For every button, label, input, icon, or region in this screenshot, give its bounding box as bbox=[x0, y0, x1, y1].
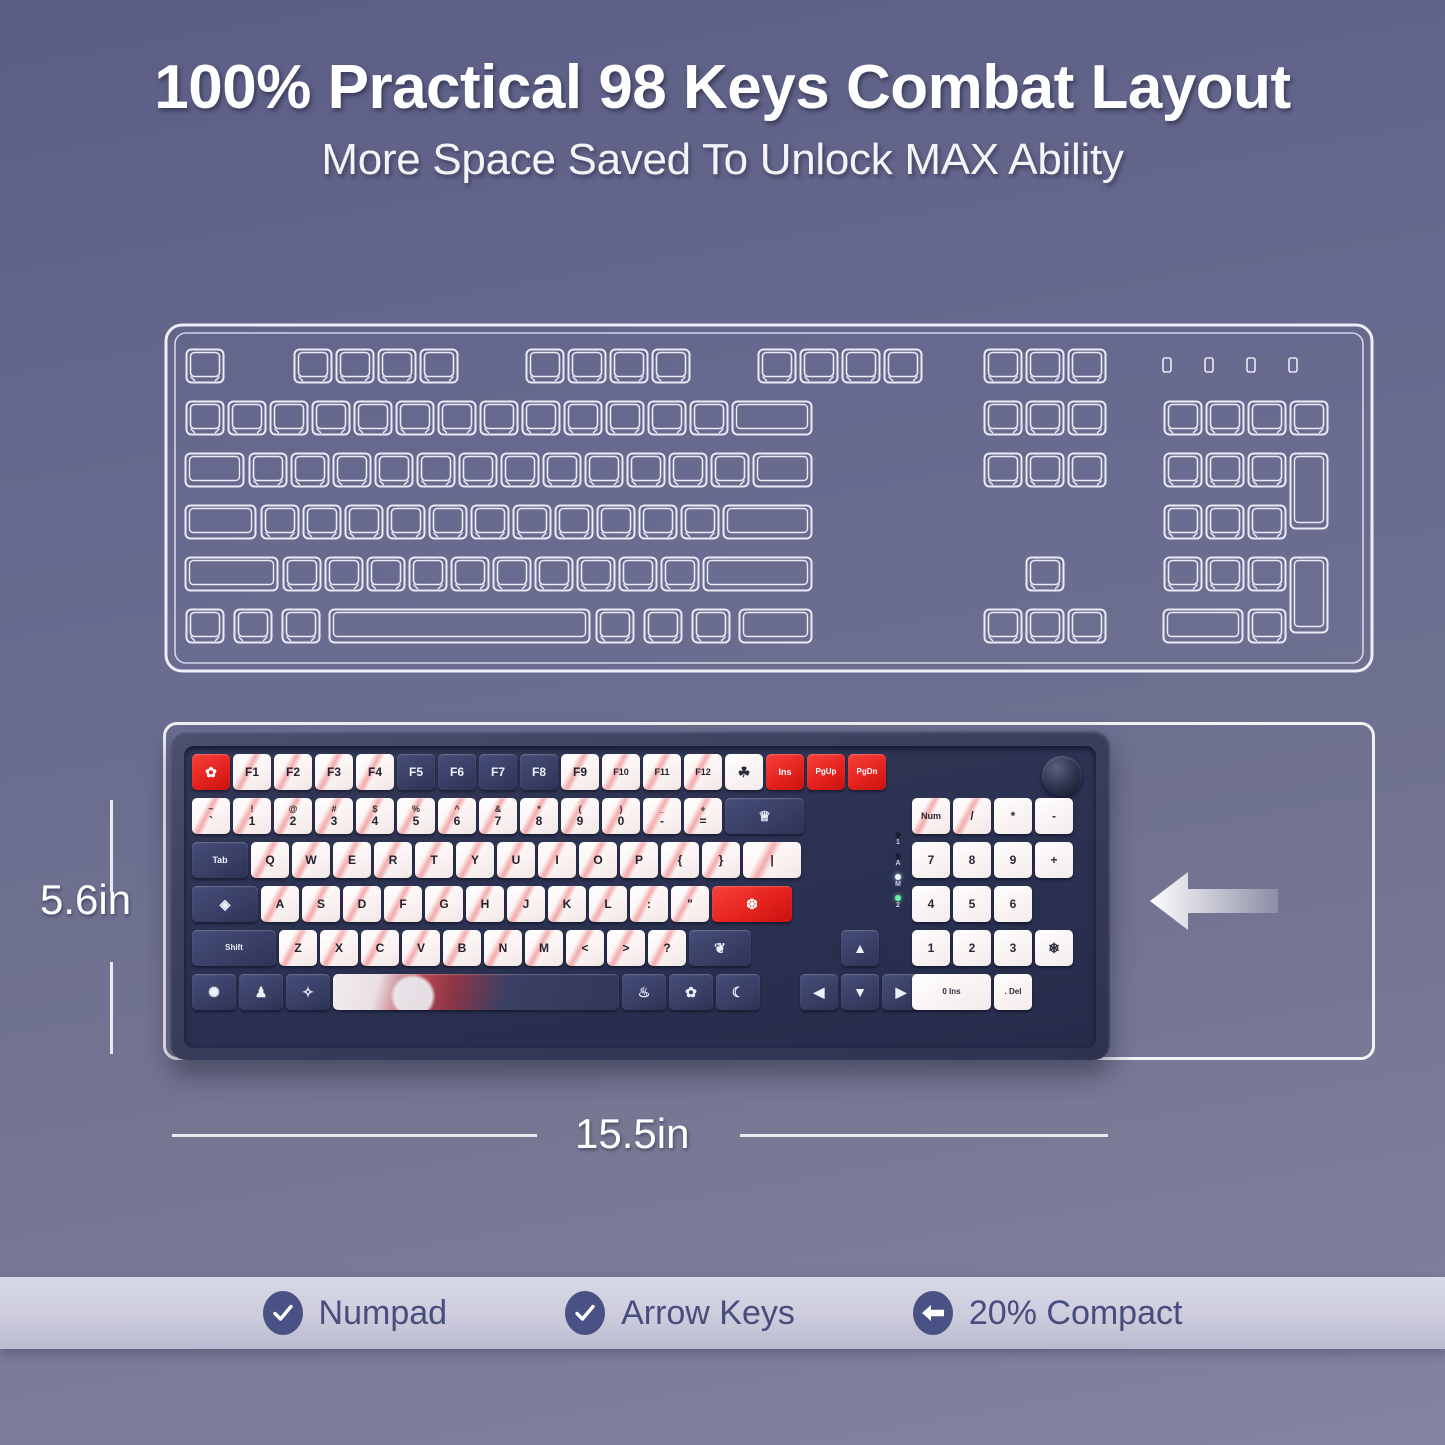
key-legend-shifted: + bbox=[700, 805, 705, 814]
key-f11[interactable]: F11 bbox=[643, 754, 681, 790]
key-f[interactable]: F bbox=[384, 886, 422, 922]
key-legend: E bbox=[348, 854, 356, 866]
key-legend: Ins bbox=[778, 768, 791, 777]
key-legend: I bbox=[555, 854, 558, 866]
key-d[interactable]: D bbox=[343, 886, 381, 922]
key-legend-primary: 2 bbox=[290, 815, 297, 827]
key-5[interactable]: 5 bbox=[953, 886, 991, 922]
key-legend: F10 bbox=[613, 768, 629, 777]
key--[interactable]: " bbox=[671, 886, 709, 922]
key-`[interactable]: ~` bbox=[192, 798, 230, 834]
key-legend: K bbox=[563, 898, 572, 910]
key-legend: Shift bbox=[225, 944, 243, 952]
key-torch-emblem[interactable]: ☘ bbox=[725, 754, 763, 790]
key-tab[interactable]: Tab bbox=[192, 842, 248, 878]
key-4[interactable]: 4 bbox=[912, 886, 950, 922]
indicator-led: 2 bbox=[895, 895, 901, 909]
indicator-led: M bbox=[895, 874, 901, 888]
key-legend: M bbox=[539, 942, 549, 954]
arrow-up-key-slot: ▲ bbox=[841, 930, 879, 966]
key-legend-shifted: & bbox=[495, 805, 502, 814]
key-legend: F12 bbox=[695, 768, 711, 777]
key-legend-shifted: % bbox=[412, 805, 420, 814]
key-3[interactable]: 3 bbox=[994, 930, 1032, 966]
key-5[interactable]: %5 bbox=[397, 798, 435, 834]
numpad-row-0del: 0 Ins. Del bbox=[912, 974, 1032, 1010]
key-legend: 4 bbox=[928, 898, 935, 910]
key-legend: F5 bbox=[409, 766, 423, 778]
width-dimension-label: 15.5in bbox=[575, 1110, 689, 1158]
key-feather-emblem[interactable]: ❦ bbox=[689, 930, 751, 966]
key-7[interactable]: 7 bbox=[912, 842, 950, 878]
key-v[interactable]: V bbox=[402, 930, 440, 966]
key-u[interactable]: U bbox=[497, 842, 535, 878]
snowflake-emblem-icon: ❄ bbox=[1048, 941, 1060, 955]
key-legend-shifted: ( bbox=[579, 805, 582, 814]
key-a[interactable]: A bbox=[261, 886, 299, 922]
feature-compact: 20% Compact bbox=[913, 1291, 1183, 1335]
crest-emblem-icon: ♕ bbox=[758, 809, 771, 823]
key-star-emblem[interactable]: ✺ bbox=[192, 974, 236, 1010]
key-7[interactable]: &7 bbox=[479, 798, 517, 834]
key-legend: B bbox=[458, 942, 467, 954]
key-8[interactable]: 8 bbox=[953, 842, 991, 878]
key-legend-primary: 3 bbox=[331, 815, 338, 827]
key-legend: F8 bbox=[532, 766, 546, 778]
key-legend-shifted: ! bbox=[251, 805, 254, 814]
key-e[interactable]: E bbox=[333, 842, 371, 878]
key-y[interactable]: Y bbox=[456, 842, 494, 878]
keyboard-product-photo: 1 A M 2 ✿F1F2F3F4F5F6F7F8F9F10F11F12☘Ins… bbox=[170, 730, 1110, 1060]
key-legend-shifted: ^ bbox=[454, 805, 459, 814]
key-legend-shifted: ~ bbox=[208, 805, 213, 814]
sakura-emblem-icon: ✿ bbox=[685, 985, 697, 999]
key-legend: . Del bbox=[1005, 988, 1022, 996]
key-diamond-emblem[interactable]: ◈ bbox=[192, 886, 258, 922]
arrow-left-circle-icon bbox=[913, 1291, 953, 1335]
key-1[interactable]: 1 bbox=[912, 930, 950, 966]
key-h[interactable]: H bbox=[466, 886, 504, 922]
key-spacebar[interactable] bbox=[333, 974, 619, 1010]
key-legend: ? bbox=[663, 942, 670, 954]
check-circle-icon bbox=[565, 1291, 605, 1335]
key-flame-emblem[interactable]: ♨ bbox=[622, 974, 666, 1010]
key-p[interactable]: P bbox=[620, 842, 658, 878]
key-2[interactable]: 2 bbox=[953, 930, 991, 966]
key-i[interactable]: I bbox=[538, 842, 576, 878]
key-sakura-emblem[interactable]: ✿ bbox=[669, 974, 713, 1010]
feather-emblem-icon: ❦ bbox=[714, 941, 726, 955]
key-f12[interactable]: F12 bbox=[684, 754, 722, 790]
key-legend-shifted: # bbox=[331, 805, 336, 814]
numpad-row-top: Num/*- bbox=[912, 798, 1073, 834]
volume-knob[interactable] bbox=[1042, 756, 1082, 796]
key-legend: Z bbox=[294, 942, 301, 954]
diamond-emblem-icon: ◈ bbox=[220, 897, 231, 911]
key-r[interactable]: R bbox=[374, 842, 412, 878]
arrow-key-cluster: ◀▼▶ bbox=[800, 974, 920, 1010]
key-legend: - bbox=[1052, 810, 1056, 822]
key-pgup[interactable]: PgUp bbox=[807, 754, 845, 790]
key-6[interactable]: 6 bbox=[994, 886, 1032, 922]
key-0[interactable]: )0 bbox=[602, 798, 640, 834]
height-guide-lower bbox=[110, 962, 113, 1054]
key-f3[interactable]: F3 bbox=[315, 754, 353, 790]
key-legend: " bbox=[687, 898, 693, 910]
page-subtitle: More Space Saved To Unlock MAX Ability bbox=[0, 135, 1445, 185]
key-4[interactable]: $4 bbox=[356, 798, 394, 834]
key-q[interactable]: Q bbox=[251, 842, 289, 878]
figure-emblem-icon: ♟ bbox=[255, 985, 268, 999]
key-legend: F4 bbox=[368, 766, 382, 778]
feature-label: Numpad bbox=[319, 1294, 448, 1333]
key-k[interactable]: K bbox=[548, 886, 586, 922]
key-legend: P bbox=[635, 854, 643, 866]
key-legend: 3 bbox=[1010, 942, 1017, 954]
indicator-led-cluster: 1 A M 2 bbox=[890, 832, 906, 909]
numpad-row-789: 789+ bbox=[912, 842, 1073, 878]
key-f5[interactable]: F5 bbox=[397, 754, 435, 790]
key-legend: U bbox=[512, 854, 521, 866]
keyboard-row-qwerty: TabQWERTYUIOP{}| bbox=[192, 842, 801, 878]
arrow-up-icon: ▲ bbox=[853, 941, 867, 955]
feature-bar: Numpad Arrow Keys 20% Compact bbox=[0, 1277, 1445, 1349]
fullsize-keyboard-outline bbox=[163, 322, 1375, 674]
headline-block: 100% Practical 98 Keys Combat Layout Mor… bbox=[0, 52, 1445, 185]
key-f9[interactable]: F9 bbox=[561, 754, 599, 790]
key-legend: < bbox=[581, 942, 588, 954]
feature-numpad: Numpad bbox=[263, 1291, 448, 1335]
key-legend: H bbox=[481, 898, 490, 910]
key-legend: F1 bbox=[245, 766, 259, 778]
key-c[interactable]: C bbox=[361, 930, 399, 966]
star-emblem-icon: ✺ bbox=[208, 985, 220, 999]
compact-arrow-icon bbox=[1150, 868, 1278, 934]
key-legend-shifted: _ bbox=[659, 805, 664, 814]
key-legend: Y bbox=[471, 854, 479, 866]
key-ins[interactable]: Ins bbox=[766, 754, 804, 790]
key-winged-emblem[interactable]: ❆ bbox=[712, 886, 792, 922]
key-legend: PgUp bbox=[816, 768, 837, 776]
key-o[interactable]: O bbox=[579, 842, 617, 878]
flower-emblem-icon: ✿ bbox=[205, 765, 217, 779]
led-label: 2 bbox=[896, 902, 900, 909]
check-circle-icon bbox=[263, 1291, 303, 1335]
key-arrow-left[interactable]: ◀ bbox=[800, 974, 838, 1010]
key-x[interactable]: X bbox=[320, 930, 358, 966]
key-legend: V bbox=[417, 942, 425, 954]
key-moon-emblem[interactable]: ☾ bbox=[716, 974, 760, 1010]
arrow-right-icon: ▶ bbox=[896, 985, 907, 999]
key-legend: 5 bbox=[969, 898, 976, 910]
key-n[interactable]: N bbox=[484, 930, 522, 966]
page-title: 100% Practical 98 Keys Combat Layout bbox=[0, 52, 1445, 123]
led-dot-icon bbox=[895, 874, 901, 880]
key--[interactable]: / bbox=[953, 798, 991, 834]
key-legend: Q bbox=[265, 854, 274, 866]
feature-arrow-keys: Arrow Keys bbox=[565, 1291, 795, 1335]
key-t[interactable]: T bbox=[415, 842, 453, 878]
key-legend: F6 bbox=[450, 766, 464, 778]
key-legend: } bbox=[719, 854, 724, 866]
key-snowflake-emblem[interactable]: ❄ bbox=[1035, 930, 1073, 966]
key-b[interactable]: B bbox=[443, 930, 481, 966]
key-legend: 8 bbox=[969, 854, 976, 866]
key-legend: G bbox=[439, 898, 448, 910]
key--[interactable]: { bbox=[661, 842, 699, 878]
key-0-ins[interactable]: 0 Ins bbox=[912, 974, 991, 1010]
crystal-emblem-icon: ✧ bbox=[302, 985, 314, 999]
key--[interactable]: * bbox=[994, 798, 1032, 834]
key--[interactable]: | bbox=[743, 842, 801, 878]
key-legend: 0 Ins bbox=[942, 988, 960, 996]
arrow-down-icon: ▼ bbox=[853, 985, 867, 999]
key-8[interactable]: *8 bbox=[520, 798, 558, 834]
key-legend: 7 bbox=[928, 854, 935, 866]
key-legend: { bbox=[678, 854, 683, 866]
key-l[interactable]: L bbox=[589, 886, 627, 922]
led-label: 1 bbox=[896, 839, 900, 846]
key-f7[interactable]: F7 bbox=[479, 754, 517, 790]
numpad-row-123: 123❄ bbox=[912, 930, 1073, 966]
key-shift[interactable]: Shift bbox=[192, 930, 276, 966]
key-9[interactable]: 9 bbox=[994, 842, 1032, 878]
key-6[interactable]: ^6 bbox=[438, 798, 476, 834]
indicator-led: 1 bbox=[895, 832, 901, 846]
key-m[interactable]: M bbox=[525, 930, 563, 966]
indicator-led: A bbox=[895, 853, 901, 867]
keyboard-row-shift: ShiftZXCVBNM<>?❦ bbox=[192, 930, 751, 966]
key-num[interactable]: Num bbox=[912, 798, 950, 834]
key-legend: A bbox=[276, 898, 285, 910]
key-f4[interactable]: F4 bbox=[356, 754, 394, 790]
key-legend-primary: 7 bbox=[495, 815, 502, 827]
moon-emblem-icon: ☾ bbox=[732, 985, 745, 999]
key-legend-shifted: $ bbox=[372, 805, 377, 814]
key--[interactable]: ? bbox=[648, 930, 686, 966]
key-g[interactable]: G bbox=[425, 886, 463, 922]
key-f10[interactable]: F10 bbox=[602, 754, 640, 790]
key-legend-shifted: @ bbox=[289, 805, 298, 814]
key-legend: W bbox=[305, 854, 316, 866]
key-legend-primary: 9 bbox=[577, 815, 584, 827]
key-flower-emblem[interactable]: ✿ bbox=[192, 754, 230, 790]
key-legend-shifted: ) bbox=[620, 805, 623, 814]
key--[interactable]: _- bbox=[643, 798, 681, 834]
key-legend-primary: 0 bbox=[618, 815, 625, 827]
key-legend: D bbox=[358, 898, 367, 910]
key-legend-primary: 1 bbox=[249, 815, 256, 827]
key-legend-primary: 8 bbox=[536, 815, 543, 827]
key-legend: J bbox=[523, 898, 530, 910]
key-j[interactable]: J bbox=[507, 886, 545, 922]
key-w[interactable]: W bbox=[292, 842, 330, 878]
led-dot-icon bbox=[895, 895, 901, 901]
key-legend: O bbox=[593, 854, 602, 866]
key-legend: X bbox=[335, 942, 343, 954]
key-legend-primary: - bbox=[660, 815, 664, 827]
keyboard-row-number: ~`!1@2#3$4%5^6&7*8(9)0_-+=♕ bbox=[192, 798, 804, 834]
key-legend: F7 bbox=[491, 766, 505, 778]
key-f8[interactable]: F8 bbox=[520, 754, 558, 790]
key-legend-primary: 4 bbox=[372, 815, 379, 827]
key-2[interactable]: @2 bbox=[274, 798, 312, 834]
key-legend: 2 bbox=[969, 942, 976, 954]
led-dot-icon bbox=[895, 832, 901, 838]
torch-emblem-icon: ☘ bbox=[738, 765, 751, 779]
key-legend: + bbox=[1050, 854, 1057, 866]
key--[interactable]: + bbox=[1035, 842, 1073, 878]
arrow-left-icon: ◀ bbox=[814, 985, 825, 999]
key-legend: L bbox=[604, 898, 611, 910]
key-legend: | bbox=[770, 854, 773, 866]
width-guide-right bbox=[740, 1134, 1108, 1137]
key-legend: Num bbox=[921, 812, 941, 821]
key--[interactable]: } bbox=[702, 842, 740, 878]
key-figure-emblem[interactable]: ♟ bbox=[239, 974, 283, 1010]
key-legend: 6 bbox=[1010, 898, 1017, 910]
key--del[interactable]: . Del bbox=[994, 974, 1032, 1010]
key-legend: R bbox=[389, 854, 398, 866]
flame-emblem-icon: ♨ bbox=[638, 985, 651, 999]
key-crest-emblem[interactable]: ♕ bbox=[725, 798, 804, 834]
key-9[interactable]: (9 bbox=[561, 798, 599, 834]
key-arrow-down[interactable]: ▼ bbox=[841, 974, 879, 1010]
key--[interactable]: < bbox=[566, 930, 604, 966]
key-arrow-up[interactable]: ▲ bbox=[841, 930, 879, 966]
key-legend: F3 bbox=[327, 766, 341, 778]
height-dimension-label: 5.6in bbox=[40, 876, 131, 924]
key-legend: F11 bbox=[654, 768, 669, 777]
key-pgdn[interactable]: PgDn bbox=[848, 754, 886, 790]
key-legend-primary: 5 bbox=[413, 815, 420, 827]
keyboard-plate: 1 A M 2 ✿F1F2F3F4F5F6F7F8F9F10F11F12☘Ins… bbox=[184, 746, 1096, 1048]
key-f2[interactable]: F2 bbox=[274, 754, 312, 790]
key-legend-primary: = bbox=[699, 815, 706, 827]
key--[interactable]: > bbox=[607, 930, 645, 966]
key-f6[interactable]: F6 bbox=[438, 754, 476, 790]
key-legend-primary: ` bbox=[209, 815, 213, 827]
key-legend: F2 bbox=[286, 766, 300, 778]
product-infographic: 100% Practical 98 Keys Combat Layout Mor… bbox=[0, 0, 1445, 1445]
key-legend: > bbox=[622, 942, 629, 954]
key-=[interactable]: += bbox=[684, 798, 722, 834]
key--[interactable]: : bbox=[630, 886, 668, 922]
key-legend: F9 bbox=[573, 766, 587, 778]
key-legend: PgDn bbox=[857, 768, 878, 776]
key-crystal-emblem[interactable]: ✧ bbox=[286, 974, 330, 1010]
key-legend: F bbox=[399, 898, 406, 910]
width-guide-left bbox=[172, 1134, 537, 1137]
key-legend: 9 bbox=[1010, 854, 1017, 866]
key-legend: N bbox=[499, 942, 508, 954]
led-label: M bbox=[895, 881, 901, 888]
key-legend: S bbox=[317, 898, 325, 910]
key-s[interactable]: S bbox=[302, 886, 340, 922]
keyboard-row-home: ◈ASDFGHJKL:"❆ bbox=[192, 886, 792, 922]
key-legend: T bbox=[430, 854, 437, 866]
winged-emblem-icon: ❆ bbox=[746, 897, 758, 911]
key--[interactable]: - bbox=[1035, 798, 1073, 834]
keyboard-row-bottom: ✺♟✧♨✿☾ bbox=[192, 974, 760, 1010]
led-label: A bbox=[895, 860, 900, 867]
key-legend: : bbox=[647, 898, 651, 910]
key-legend: 1 bbox=[928, 942, 935, 954]
key-1[interactable]: !1 bbox=[233, 798, 271, 834]
feature-label: 20% Compact bbox=[969, 1294, 1183, 1333]
key-legend: / bbox=[970, 810, 973, 822]
key-legend: Tab bbox=[212, 856, 227, 865]
key-3[interactable]: #3 bbox=[315, 798, 353, 834]
key-legend: C bbox=[376, 942, 385, 954]
key-legend-primary: 6 bbox=[454, 815, 461, 827]
keyboard-row-function: ✿F1F2F3F4F5F6F7F8F9F10F11F12☘InsPgUpPgDn bbox=[192, 754, 886, 790]
key-z[interactable]: Z bbox=[279, 930, 317, 966]
led-dot-icon bbox=[895, 853, 901, 859]
key-legend: * bbox=[1011, 810, 1016, 822]
numpad-row-456: 456 bbox=[912, 886, 1032, 922]
key-f1[interactable]: F1 bbox=[233, 754, 271, 790]
feature-label: Arrow Keys bbox=[621, 1294, 795, 1333]
key-legend-shifted: * bbox=[537, 805, 541, 814]
